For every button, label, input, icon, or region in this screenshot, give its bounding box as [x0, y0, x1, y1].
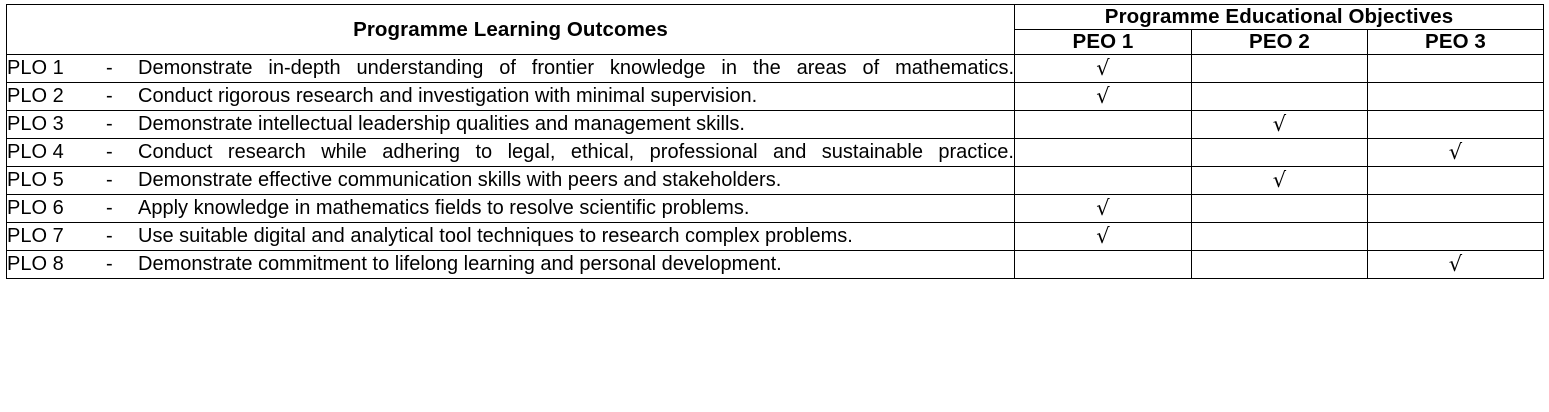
plo-description: Conduct research while adhering to legal… — [138, 139, 1014, 166]
plo-separator: - — [106, 111, 138, 138]
plo-description: Use suitable digital and analytical tool… — [138, 223, 1014, 250]
mapping-cell-peo3 — [1368, 223, 1544, 251]
mapping-cell-peo3 — [1368, 111, 1544, 139]
plo-description: Demonstrate in-depth understanding of fr… — [138, 55, 1014, 82]
header-row-group: Programme Learning Outcomes Programme Ed… — [7, 5, 1544, 30]
plo-description-cell: PLO 4 - Conduct research while adhering … — [7, 139, 1015, 167]
column-header-peo-3: PEO 3 — [1368, 30, 1544, 55]
plo-separator: - — [106, 167, 138, 194]
plo-description-cell: PLO 3 - Demonstrate intellectual leaders… — [7, 111, 1015, 139]
plo-description-cell: PLO 2 - Conduct rigorous research and in… — [7, 83, 1015, 111]
plo-code: PLO 4 — [7, 139, 106, 166]
plo-separator: - — [106, 139, 138, 166]
plo-separator: - — [106, 55, 138, 82]
plo-code: PLO 8 — [7, 251, 106, 278]
plo-separator: - — [106, 251, 138, 278]
mapping-cell-peo2 — [1192, 139, 1368, 167]
table-row: PLO 6 - Apply knowledge in mathematics f… — [7, 195, 1544, 223]
column-header-peo-1: PEO 1 — [1015, 30, 1192, 55]
mapping-cell-peo2 — [1192, 55, 1368, 83]
mapping-cell-peo2: √ — [1192, 111, 1368, 139]
mapping-cell-peo1: √ — [1015, 223, 1192, 251]
mapping-cell-peo1 — [1015, 111, 1192, 139]
mapping-cell-peo2 — [1192, 223, 1368, 251]
mapping-cell-peo2 — [1192, 251, 1368, 279]
mapping-cell-peo1: √ — [1015, 195, 1192, 223]
plo-description-cell: PLO 8 - Demonstrate commitment to lifelo… — [7, 251, 1015, 279]
table-row: PLO 5 - Demonstrate effective communicat… — [7, 167, 1544, 195]
plo-description-cell: PLO 6 - Apply knowledge in mathematics f… — [7, 195, 1015, 223]
plo-code: PLO 5 — [7, 167, 106, 194]
mapping-cell-peo3 — [1368, 83, 1544, 111]
plo-separator: - — [106, 83, 138, 110]
plo-description-cell: PLO 7 - Use suitable digital and analyti… — [7, 223, 1015, 251]
plo-peo-mapping-sheet: Programme Learning Outcomes Programme Ed… — [0, 0, 1549, 412]
table-header: Programme Learning Outcomes Programme Ed… — [7, 5, 1544, 55]
mapping-cell-peo3 — [1368, 167, 1544, 195]
mapping-cell-peo1: √ — [1015, 55, 1192, 83]
mapping-cell-peo3: √ — [1368, 251, 1544, 279]
plo-code: PLO 1 — [7, 55, 106, 82]
mapping-cell-peo1 — [1015, 251, 1192, 279]
mapping-cell-peo1 — [1015, 139, 1192, 167]
plo-code: PLO 6 — [7, 195, 106, 222]
plo-description: Apply knowledge in mathematics fields to… — [138, 195, 1014, 222]
mapping-cell-peo2: √ — [1192, 167, 1368, 195]
table-row: PLO 8 - Demonstrate commitment to lifelo… — [7, 251, 1544, 279]
plo-description-cell: PLO 1 - Demonstrate in-depth understandi… — [7, 55, 1015, 83]
plo-description: Conduct rigorous research and investigat… — [138, 83, 1014, 110]
mapping-cell-peo1: √ — [1015, 83, 1192, 111]
plo-code: PLO 3 — [7, 111, 106, 138]
plo-description: Demonstrate effective communication skil… — [138, 167, 1014, 194]
plo-peo-mapping-table: Programme Learning Outcomes Programme Ed… — [6, 4, 1544, 279]
mapping-cell-peo2 — [1192, 195, 1368, 223]
table-row: PLO 1 - Demonstrate in-depth understandi… — [7, 55, 1544, 83]
table-row: PLO 4 - Conduct research while adhering … — [7, 139, 1544, 167]
table-body: PLO 1 - Demonstrate in-depth understandi… — [7, 55, 1544, 279]
plo-separator: - — [106, 195, 138, 222]
plo-separator: - — [106, 223, 138, 250]
table-row: PLO 2 - Conduct rigorous research and in… — [7, 83, 1544, 111]
plo-description-cell: PLO 5 - Demonstrate effective communicat… — [7, 167, 1015, 195]
table-row: PLO 3 - Demonstrate intellectual leaders… — [7, 111, 1544, 139]
mapping-cell-peo3: √ — [1368, 139, 1544, 167]
plo-description: Demonstrate commitment to lifelong learn… — [138, 251, 1014, 278]
column-header-programme-educational-objectives: Programme Educational Objectives — [1015, 5, 1544, 30]
mapping-cell-peo1 — [1015, 167, 1192, 195]
mapping-cell-peo3 — [1368, 55, 1544, 83]
mapping-cell-peo2 — [1192, 83, 1368, 111]
column-header-peo-2: PEO 2 — [1192, 30, 1368, 55]
plo-code: PLO 2 — [7, 83, 106, 110]
plo-description: Demonstrate intellectual leadership qual… — [138, 111, 1014, 138]
column-header-programme-learning-outcomes: Programme Learning Outcomes — [7, 5, 1015, 55]
table-row: PLO 7 - Use suitable digital and analyti… — [7, 223, 1544, 251]
mapping-cell-peo3 — [1368, 195, 1544, 223]
plo-code: PLO 7 — [7, 223, 106, 250]
